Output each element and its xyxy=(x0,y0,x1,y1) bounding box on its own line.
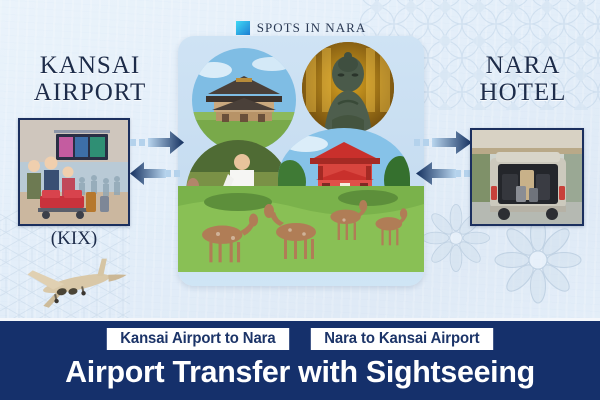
left-label-line-1: KANSAI xyxy=(4,52,176,79)
todaiji-temple-photo xyxy=(192,48,296,152)
route-tag-row: Kansai Airport to Nara Nara to Kansai Ai… xyxy=(0,327,600,351)
arrow-left-icon xyxy=(130,162,180,185)
poster-root: KANSAI AIRPORT xyxy=(0,0,600,400)
poster-main-title: Airport Transfer with Sightseeing xyxy=(6,351,594,393)
arrows-left-group xyxy=(130,126,186,196)
right-label-line-2: HOTEL xyxy=(448,79,598,106)
nara-spots-collage-card xyxy=(178,36,424,286)
spots-in-nara-header: SPOTS IN NARA xyxy=(178,18,424,38)
arrows-right-group xyxy=(414,126,476,196)
arrow-right-icon xyxy=(414,131,472,154)
right-destination-label: NARA HOTEL xyxy=(448,52,598,106)
blue-square-icon xyxy=(236,21,250,35)
spots-in-nara-label: SPOTS IN NARA xyxy=(257,20,367,36)
route-tag-nara-to-kansai[interactable]: Nara to Kansai Airport xyxy=(311,328,493,351)
van-luggage-photo xyxy=(470,128,584,226)
nara-park-deer-photo xyxy=(178,186,424,272)
kix-code-label: (KIX) xyxy=(18,228,130,250)
left-destination-label: KANSAI AIRPORT xyxy=(4,52,176,106)
left-label-line-2: AIRPORT xyxy=(4,79,176,106)
arrow-left-icon xyxy=(416,162,470,185)
route-tag-kansai-to-nara[interactable]: Kansai Airport to Nara xyxy=(107,328,289,351)
airplane-illustration-icon xyxy=(14,252,134,312)
arrow-right-icon xyxy=(130,131,184,154)
airport-terminal-photo xyxy=(18,118,130,226)
bottom-banner: Kansai Airport to Nara Nara to Kansai Ai… xyxy=(0,318,600,400)
right-label-line-1: NARA xyxy=(448,52,598,79)
great-buddha-photo xyxy=(302,42,394,134)
